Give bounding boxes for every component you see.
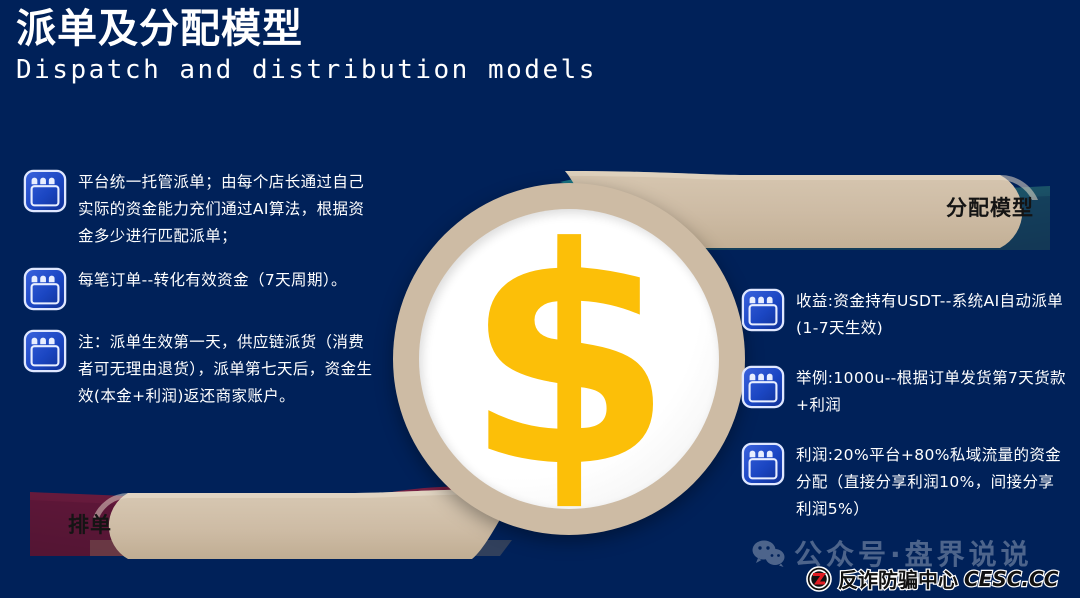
page-title-en: Dispatch and distribution models [16, 54, 597, 86]
list-item: 举例:1000u--根据订单发货第7天货款+利润 [740, 364, 1070, 419]
calendar-icon [740, 364, 786, 410]
center-circle: $ [393, 183, 745, 535]
list-item-label: 收益:资金持有USDT--系统AI自动派单(1-7天生效) [796, 287, 1068, 342]
calendar-icon [740, 441, 786, 487]
calendar-icon [740, 287, 786, 333]
calendar-icon [22, 168, 68, 214]
right-bullet-list: 收益:资金持有USDT--系统AI自动派单(1-7天生效) 举例:1000u--… [740, 287, 1070, 545]
list-item-label: 利润:20%平台+80%私域流量的资金分配（直接分享利润10%，间接分享利润5%… [796, 441, 1068, 523]
page-title-cn: 派单及分配模型 [16, 6, 597, 52]
badge-label-cn: 反诈防骗中心 [838, 564, 958, 593]
calendar-icon [22, 266, 68, 312]
list-item-label: 每笔订单--转化有效资金（7天周期）。 [78, 266, 378, 294]
list-item-label: 平台统一托管派单；由每个店长通过自己实际的资金能力充们通过AI算法，根据资金多少… [78, 168, 378, 250]
list-item: 平台统一托管派单；由每个店长通过自己实际的资金能力充们通过AI算法，根据资金多少… [22, 168, 390, 250]
list-item: 注：派单生效第一天，供应链派货（消费者可无理由退货），派单第七天后，资金生效(本… [22, 328, 390, 410]
list-item: 利润:20%平台+80%私域流量的资金分配（直接分享利润10%，间接分享利润5%… [740, 441, 1070, 523]
calendar-icon [22, 328, 68, 374]
anti-fraud-logo-icon [806, 566, 832, 592]
badge-label-url: CESC.CC [964, 567, 1058, 591]
slide-root: 派单及分配模型 Dispatch and distribution models… [0, 0, 1080, 598]
list-item-label: 注：派单生效第一天，供应链派货（消费者可无理由退货），派单第七天后，资金生效(本… [78, 328, 378, 410]
banner-label-distribution-model: 分配模型 [946, 192, 1034, 222]
title-block: 派单及分配模型 Dispatch and distribution models [16, 6, 597, 86]
banner-label-order-queue: 排单 [68, 509, 112, 539]
left-bullet-list: 平台统一托管派单；由每个店长通过自己实际的资金能力充们通过AI算法，根据资金多少… [22, 168, 390, 426]
wechat-icon [752, 539, 786, 567]
anti-fraud-badge: 反诈防骗中心 CESC.CC [806, 564, 1058, 593]
list-item-label: 举例:1000u--根据订单发货第7天货款+利润 [796, 364, 1068, 419]
dollar-sign-icon: $ [393, 209, 745, 509]
list-item: 每笔订单--转化有效资金（7天周期）。 [22, 266, 390, 312]
list-item: 收益:资金持有USDT--系统AI自动派单(1-7天生效) [740, 287, 1070, 342]
